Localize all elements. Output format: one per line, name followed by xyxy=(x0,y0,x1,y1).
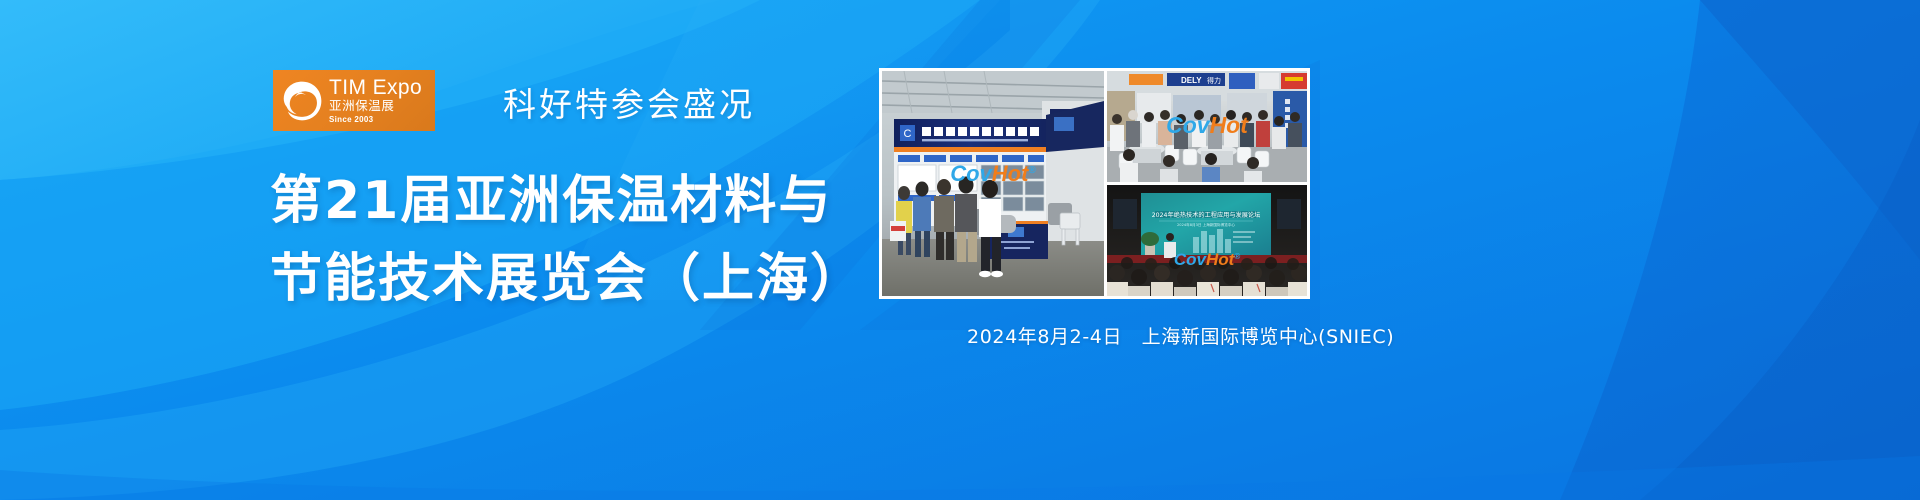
svg-text:CovHot: CovHot xyxy=(1166,112,1249,138)
svg-text:DELY: DELY xyxy=(1181,76,1202,85)
svg-text:2024年绝热技术的工程应用与发展论坛: 2024年绝热技术的工程应用与发展论坛 xyxy=(1152,211,1261,219)
svg-text:C: C xyxy=(904,128,912,140)
crowd-photo: DELY 得力 xyxy=(1107,71,1307,182)
photo-column-right: DELY 得力 xyxy=(1107,71,1307,296)
svg-text:2024年8月3日 上海新国际博览中心: 2024年8月3日 上海新国际博览中心 xyxy=(1177,222,1235,227)
forum-photo: 2024年绝热技术的工程应用与发展论坛 2024年8月3日 上海新国际博览中心 xyxy=(1107,185,1307,296)
headline-line-1: 第21届亚洲保温材料与 xyxy=(270,162,864,240)
photo-collage: C xyxy=(879,68,1310,299)
tim-expo-logo[interactable]: TIM Expo 亚洲保温展 Since 2003 xyxy=(273,70,435,131)
subtitle-text: 科好特参会盛况 xyxy=(503,78,755,126)
swoosh-circle-icon xyxy=(280,79,324,123)
page-title: 第21届亚洲保温材料与 节能技术展览会（上海） xyxy=(270,162,864,318)
logo-title-en: TIM Expo xyxy=(329,77,422,98)
booth-photo: C xyxy=(882,71,1104,296)
venue-date-text: 2024年8月2-4日 上海新国际博览中心(SNIEC) xyxy=(967,322,1394,349)
headline-line-2: 节能技术展览会（上海） xyxy=(270,240,864,318)
svg-text:CovHot®: CovHot® xyxy=(1174,250,1240,269)
logo-title-cn: 亚洲保温展 xyxy=(329,100,422,113)
expo-banner: TIM Expo 亚洲保温展 Since 2003 科好特参会盛况 第21届亚洲… xyxy=(0,0,1920,500)
svg-text:CovHot®: CovHot® xyxy=(950,161,1036,186)
svg-text:得力: 得力 xyxy=(1207,76,1221,85)
logo-since-label: Since 2003 xyxy=(329,116,422,124)
